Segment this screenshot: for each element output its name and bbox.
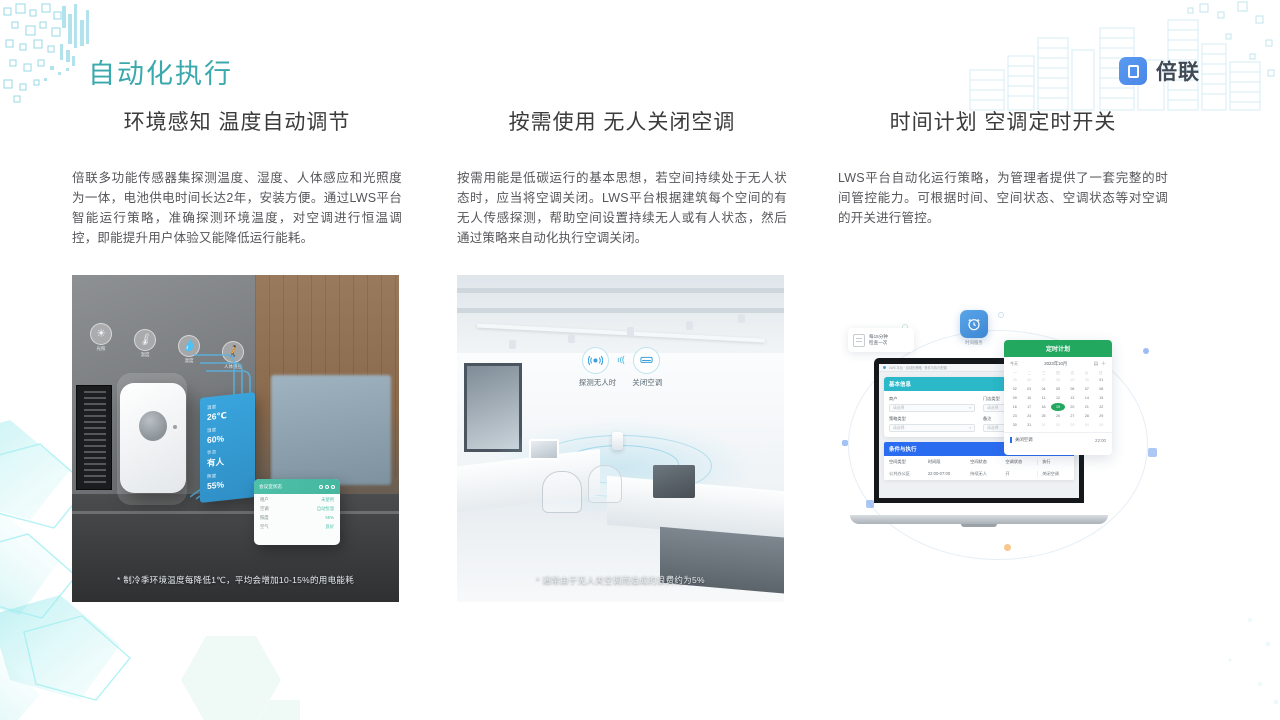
spot-light xyxy=(738,314,745,323)
desktop-monitor xyxy=(653,465,695,498)
floor-edge-line xyxy=(72,511,399,514)
calendar-day[interactable]: 28 xyxy=(1080,412,1093,420)
calendar-day[interactable]: 08 xyxy=(1095,385,1108,393)
schedule-calendar-card: 定时计划 今天 2023年10月 ▤ ＋ 一 二 三 四 五 六 日 25262… xyxy=(1004,340,1112,455)
status-indicator-dots xyxy=(319,485,335,489)
page-title: 自动化执行 xyxy=(88,52,233,91)
field-merchant: 商户 请选择 ▾ xyxy=(889,396,975,412)
mesh-chair xyxy=(542,471,582,513)
readout-row: 照度 55% xyxy=(207,470,248,491)
photo-schedule-dashboard: 每15分钟 检查一次 时间服务 LWS 平台 · 自动化策略 · 条件与执行配置 xyxy=(838,300,1165,580)
calendar-day[interactable]: 26 xyxy=(1022,376,1035,384)
field-label: 策略类型 xyxy=(889,416,975,422)
readout-row: 状态 有人 xyxy=(207,446,248,469)
room-status-card-header: 会议室状态 xyxy=(254,479,340,494)
room-status-row: 照度 55% xyxy=(254,512,340,521)
mesh-chair xyxy=(588,465,622,503)
calendar-view-icon[interactable]: ▤ ＋ xyxy=(1093,360,1106,367)
laptop-notch xyxy=(961,524,997,527)
decor-dot xyxy=(1004,544,1011,551)
turn-off-ac-label: 关闭空调 xyxy=(632,377,662,388)
column-header: 执行 xyxy=(1037,459,1069,465)
calendar-day[interactable]: 09 xyxy=(1008,394,1021,402)
calendar-weekdays: 一 二 三 四 五 六 日 xyxy=(1004,370,1112,375)
square-logo-icon xyxy=(1119,57,1147,85)
column-body: 倍联多功能传感器集探测温度、湿度、人体感应和光照度为一体，电池供电时间长达2年，… xyxy=(72,168,402,248)
multifunction-sensor-device xyxy=(120,383,186,493)
row-key: 照度 xyxy=(260,515,269,521)
calendar-day[interactable]: 02 xyxy=(1051,421,1064,429)
column-title: 时间计划 空调定时开关 xyxy=(838,108,1168,138)
detect-vacant-label: 探测无人时 xyxy=(579,377,617,388)
decor-dot xyxy=(866,500,874,508)
calendar-day[interactable]: 19 xyxy=(1051,403,1064,411)
occupancy-sensor-icon xyxy=(582,347,609,374)
weekday: 四 xyxy=(1051,370,1065,375)
row-value: 未使用 xyxy=(321,497,334,503)
event-time: 22:00 xyxy=(1095,438,1106,443)
calendar-day[interactable]: 27 xyxy=(1066,412,1079,420)
column-header: 时间段 xyxy=(928,459,970,465)
chip-line-1: 每15分钟 xyxy=(869,334,888,339)
time-service-icon: 时间服务 xyxy=(960,310,988,338)
calendar-day[interactable]: 07 xyxy=(1080,385,1093,393)
toolbar-text: LWS 平台 · 自动化策略 · 条件与执行配置 xyxy=(889,365,947,370)
calendar-day[interactable]: 25 xyxy=(1008,376,1021,384)
calendar-day[interactable]: 11 xyxy=(1037,394,1050,402)
spot-light xyxy=(627,327,634,336)
room-status-title: 会议室状态 xyxy=(259,484,282,490)
detection-badge-group xyxy=(582,347,660,374)
field-placeholder: 请选择 xyxy=(987,426,998,431)
calendar-day[interactable]: 28 xyxy=(1051,376,1064,384)
brand-name: 倍联 xyxy=(1156,56,1200,86)
row-value: 自动恒温 xyxy=(317,506,334,512)
light-sensor-label: 光照 xyxy=(97,346,106,352)
cell-time-range: 22:00-07:00 xyxy=(928,471,970,477)
desktop-monitor xyxy=(529,439,559,460)
app-logo-icon xyxy=(883,366,886,369)
calendar-day[interactable]: 29 xyxy=(1066,376,1079,384)
calendar-day[interactable]: 16 xyxy=(1008,403,1021,411)
column-title: 按需使用 无人关闭空调 xyxy=(457,108,787,138)
decor-dot xyxy=(1148,448,1157,457)
calendar-day[interactable]: 01 xyxy=(1037,421,1050,429)
column-header: 空调状态 xyxy=(1005,459,1037,465)
window xyxy=(464,363,523,451)
field-placeholder: 请选择 xyxy=(893,406,904,411)
calendar-day[interactable]: 29 xyxy=(1095,412,1108,420)
ceiling-beam xyxy=(457,288,784,293)
readout-row: 湿度 60% xyxy=(207,424,248,445)
feature-column-on-demand: 按需使用 无人关闭空调 按需用能是低碳运行的基本思想，若空间持续处于无人状态时，… xyxy=(457,108,787,248)
photo-sensor-on-wall: ☀ 光照 🌡 温度 💧 湿度 🚶 人体感应 温度 26℃ xyxy=(72,275,399,602)
ceiling-beam xyxy=(457,308,784,313)
sensor-lens xyxy=(139,411,167,441)
field-placeholder: 请选择 xyxy=(987,406,998,411)
decoration-bottom-right-dots xyxy=(1110,600,1280,720)
calendar-day-grid[interactable]: 2526272829300102030405060708091011121314… xyxy=(1004,375,1112,432)
column-title: 环境感知 温度自动调节 xyxy=(72,108,402,138)
calendar-day[interactable]: 15 xyxy=(1095,394,1108,402)
spot-light xyxy=(686,321,693,330)
calendar-day[interactable]: 10 xyxy=(1022,394,1035,402)
photo-caption: * 制冷季环境温度每降低1℃，平均会增加10-15%的用电能耗 xyxy=(72,574,399,586)
cell-ac-state: 开 xyxy=(1005,471,1037,477)
row-value: 良好 xyxy=(325,524,334,530)
temperature-sensor-label: 温度 xyxy=(141,352,150,358)
column-body: LWS平台自动化运行策略，为管理者提供了一套完整的时间管控能力。可根据时间、空间… xyxy=(838,168,1168,228)
decor-dot xyxy=(998,312,1004,318)
readout-row: 温度 26℃ xyxy=(207,401,248,423)
calendar-day[interactable]: 18 xyxy=(1037,403,1050,411)
weekday: 六 xyxy=(1079,370,1093,375)
calendar-event[interactable]: 关闭空调 22:00 xyxy=(1004,432,1112,447)
row-key: 空气 xyxy=(260,524,269,530)
calendar-day[interactable]: 03 xyxy=(1022,385,1035,393)
laptop-base xyxy=(850,515,1108,524)
calendar-day[interactable]: 05 xyxy=(1051,385,1064,393)
feature-column-env-sensing: 环境感知 温度自动调节 倍联多功能传感器集探测温度、湿度、人体感应和光照度为一体… xyxy=(72,108,402,248)
room-status-row: 空气 良好 xyxy=(254,521,340,530)
weekday: 一 xyxy=(1008,370,1022,375)
document-check-icon xyxy=(853,334,865,347)
room-status-row: 空调 自动恒温 xyxy=(254,503,340,512)
field-policy-type: 策略类型 请选择 ▾ xyxy=(889,416,975,432)
calendar-day[interactable]: 02 xyxy=(1008,385,1021,393)
calendar-day[interactable]: 30 xyxy=(1080,376,1093,384)
chevron-down-icon: ▾ xyxy=(969,406,971,410)
calendar-day[interactable]: 20 xyxy=(1066,403,1079,411)
slide-page: 自动化执行 倍联 环境感知 温度自动调节 倍联多功能传感器集探测温度、湿度、人体… xyxy=(0,0,1280,720)
brand-logo: 倍联 xyxy=(1119,56,1200,86)
sensor-readout-panel: 温度 26℃ 湿度 60% 状态 有人 照度 55% xyxy=(200,392,255,503)
column-header: 空间类型 xyxy=(889,459,928,465)
decor-dot xyxy=(1143,348,1149,354)
calendar-day[interactable]: 03 xyxy=(1066,421,1079,429)
temperature-sensor-icon: 🌡 温度 xyxy=(134,329,156,351)
calendar-day[interactable]: 27 xyxy=(1037,376,1050,384)
cell-space-type: 公共办公区 xyxy=(889,471,928,477)
calendar-day[interactable]: 26 xyxy=(1051,412,1064,420)
calendar-day[interactable]: 12 xyxy=(1051,394,1064,402)
calendar-day[interactable]: 30 xyxy=(1008,421,1021,429)
column-header: 空间状态 xyxy=(970,459,1005,465)
light-sensor-icon: ☀ 光照 xyxy=(90,323,112,345)
signal-icon xyxy=(615,354,627,366)
status-led xyxy=(173,425,177,429)
table-header-row: 空间类型 时间段 空间状态 空调状态 执行 xyxy=(884,456,1074,468)
row-key: 空调 xyxy=(260,506,269,512)
weekday: 五 xyxy=(1065,370,1079,375)
field-placeholder: 请选择 xyxy=(893,426,904,431)
row-key: 租户 xyxy=(260,497,269,503)
ceiling-occupancy-sensor xyxy=(612,432,623,450)
wall-vent xyxy=(76,385,112,490)
feature-column-schedule: 时间计划 空调定时开关 LWS平台自动化运行策略，为管理者提供了一套完整的时间管… xyxy=(838,108,1168,228)
calendar-day[interactable]: 21 xyxy=(1080,403,1093,411)
detection-labels: 探测无人时 关闭空调 xyxy=(579,377,663,388)
weekday: 日 xyxy=(1094,370,1108,375)
calendar-day[interactable]: 04 xyxy=(1037,385,1050,393)
chevron-down-icon: ▾ xyxy=(969,426,971,430)
calendar-day[interactable]: 23 xyxy=(1008,412,1021,420)
calendar-day[interactable]: 24 xyxy=(1022,412,1035,420)
calendar-day[interactable]: 25 xyxy=(1037,412,1050,420)
column-body: 按需用能是低碳运行的基本思想，若空间持续处于无人状态时，应当将空调关闭。LWS平… xyxy=(457,168,787,248)
calendar-day[interactable]: 04 xyxy=(1080,421,1093,429)
weekday: 三 xyxy=(1037,370,1051,375)
air-conditioner-icon xyxy=(633,347,660,374)
page-header: 自动化执行 倍联 xyxy=(0,0,1280,110)
row-value: 55% xyxy=(325,515,334,521)
weekday: 二 xyxy=(1022,370,1036,375)
calendar-day[interactable]: 13 xyxy=(1066,394,1079,402)
calendar-day[interactable]: 14 xyxy=(1080,394,1093,402)
spot-light xyxy=(568,334,575,343)
photo-office-occupancy: 探测无人时 关闭空调 * 通常由于无人关空调而造成的浪费约为5% xyxy=(457,275,784,602)
calendar-nav: 今天 2023年10月 ▤ ＋ xyxy=(1004,357,1112,370)
merchant-select[interactable]: 请选择 ▾ xyxy=(889,404,975,412)
chip-line-2: 检查一次 xyxy=(869,340,887,345)
photo-caption: * 通常由于无人关空调而造成的浪费约为5% xyxy=(457,574,784,586)
calendar-day[interactable]: 06 xyxy=(1066,385,1079,393)
field-label: 商户 xyxy=(889,396,975,402)
table-row[interactable]: 公共办公区 22:00-07:00 持续无人 开 关闭空调 xyxy=(884,468,1074,480)
calendar-day[interactable]: 17 xyxy=(1022,403,1035,411)
cell-action: 关闭空调 xyxy=(1037,471,1069,477)
today-button[interactable]: 今天 xyxy=(1010,361,1018,367)
spot-light xyxy=(509,340,516,349)
calendar-day[interactable]: 05 xyxy=(1095,421,1108,429)
policy-type-select[interactable]: 请选择 ▾ xyxy=(889,424,975,432)
room-status-card: 会议室状态 租户 未使用 空调 自动恒温 照度 55% 空气 良好 xyxy=(254,479,340,545)
decor-dot xyxy=(842,440,848,446)
calendar-month[interactable]: 2023年10月 xyxy=(1044,361,1067,367)
calendar-day[interactable]: 31 xyxy=(1022,421,1035,429)
room-status-row: 租户 未使用 xyxy=(254,494,340,503)
calendar-day[interactable]: 01 xyxy=(1095,376,1108,384)
cell-space-state: 持续无人 xyxy=(970,471,1005,477)
calendar-day[interactable]: 22 xyxy=(1095,403,1108,411)
check-interval-text: 每15分钟 检查一次 xyxy=(869,334,888,347)
calendar-title: 定时计划 xyxy=(1004,340,1112,357)
event-name: 关闭空调 xyxy=(1010,437,1033,443)
check-interval-chip: 每15分钟 检查一次 xyxy=(848,328,914,352)
time-service-label: 时间服务 xyxy=(965,340,983,346)
